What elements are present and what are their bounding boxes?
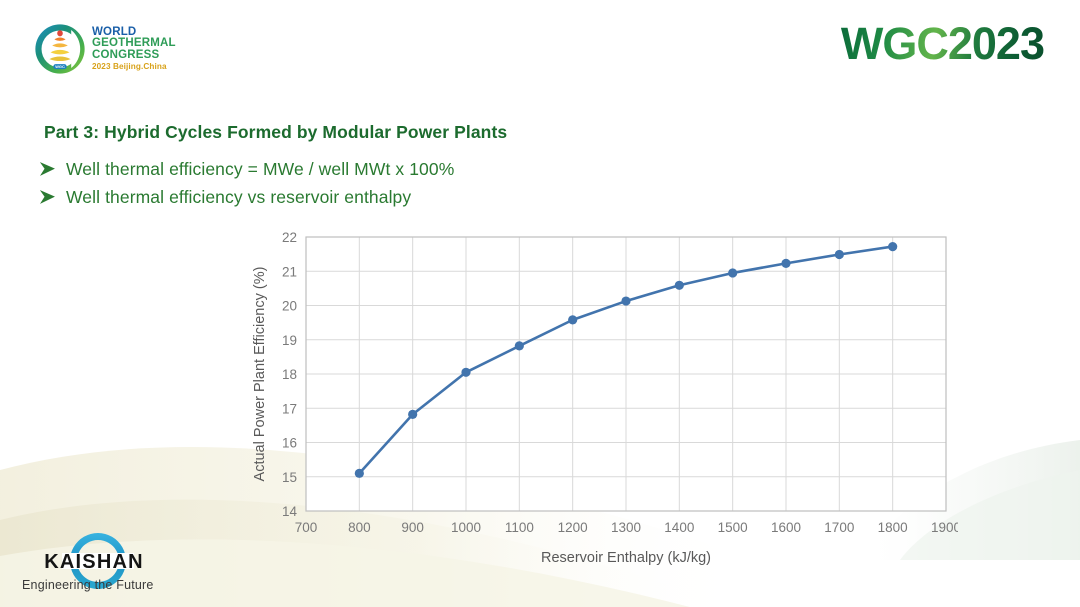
data-point-marker[interactable]: 1000, 18.05 [461,368,470,377]
data-point-marker[interactable]: 1700, 21.49 [835,250,844,259]
kaishan-tagline: Engineering the Future [22,578,154,592]
x-axis-tick-label: 1500 [718,520,748,535]
wgc2023-wordmark: WGC2023 [841,18,1044,70]
y-axis-tick-label: 17 [282,401,297,416]
y-axis-tick-label: 20 [282,299,297,314]
data-point-marker[interactable]: 1500, 20.95 [728,268,737,277]
x-axis-title: Reservoir Enthalpy (kJ/kg) [541,550,711,566]
arrow-bullet-icon [40,186,66,209]
y-axis-tick-label: 21 [282,264,297,279]
y-axis-tick-label: 18 [282,367,297,382]
y-axis-tick-label: 19 [282,333,297,348]
wgc-emblem-icon: WGC [32,21,88,77]
kaishan-wordmark: KAISHAN [44,551,144,573]
data-point-marker[interactable]: 1400, 20.59 [675,281,684,290]
y-axis-title: Actual Power Plant Efficiency (%) [252,267,268,482]
x-axis-tick-label: 1200 [558,520,588,535]
wgc-logo-line-3: CONGRESS [92,50,176,62]
x-axis-tick-label: 800 [348,520,371,535]
x-axis-tick-label: 1700 [824,520,854,535]
x-axis-tick-label: 1000 [451,520,481,535]
data-point-marker[interactable]: 1800, 21.72 [888,242,897,251]
efficiency-line-chart: 800, 15.1900, 16.821000, 18.051100, 18.8… [248,228,958,573]
y-axis-tick-label: 16 [282,436,297,451]
bullet-item: Well thermal efficiency = MWe / well MWt… [40,158,454,181]
bullet-text: Well thermal efficiency vs reservoir ent… [66,186,411,209]
bullet-list: Well thermal efficiency = MWe / well MWt… [40,158,454,214]
x-axis-tick-label: 1800 [878,520,908,535]
data-point-marker[interactable]: 1100, 18.82 [515,341,524,350]
y-axis-tick-label: 22 [282,230,297,245]
x-axis-tick-label: 1300 [611,520,641,535]
bullet-item: Well thermal efficiency vs reservoir ent… [40,186,454,209]
chart-canvas: 800, 15.1900, 16.821000, 18.051100, 18.8… [248,228,958,573]
x-axis-tick-label: 900 [401,520,424,535]
data-point-marker[interactable]: 1600, 21.23 [781,259,790,268]
x-axis-tick-label: 1100 [505,520,534,535]
wgc-congress-logo: WGC WORLD GEOTHERMAL CONGRESS 2023 Beiji… [32,18,177,80]
data-point-marker[interactable]: 800, 15.1 [355,469,364,478]
x-axis-tick-label: 1600 [771,520,801,535]
arrow-bullet-icon [40,158,66,181]
y-axis-tick-label: 14 [282,504,298,519]
data-point-marker[interactable]: 1200, 19.58 [568,315,577,324]
bullet-text: Well thermal efficiency = MWe / well MWt… [66,158,454,181]
wgc-logo-line-4: 2023 Beijing.China [92,63,176,71]
x-axis-tick-label: 1400 [664,520,694,535]
slide-title: Part 3: Hybrid Cycles Formed by Modular … [44,122,507,143]
x-axis-tick-label: 700 [295,520,318,535]
x-axis-tick-label: 1900 [931,520,958,535]
data-point-marker[interactable]: 900, 16.82 [408,410,417,419]
data-point-marker[interactable]: 1300, 20.13 [621,296,630,305]
slide-header: WGC WORLD GEOTHERMAL CONGRESS 2023 Beiji… [0,0,1080,100]
svg-text:WGC: WGC [55,64,65,69]
y-axis-tick-label: 15 [282,470,297,485]
